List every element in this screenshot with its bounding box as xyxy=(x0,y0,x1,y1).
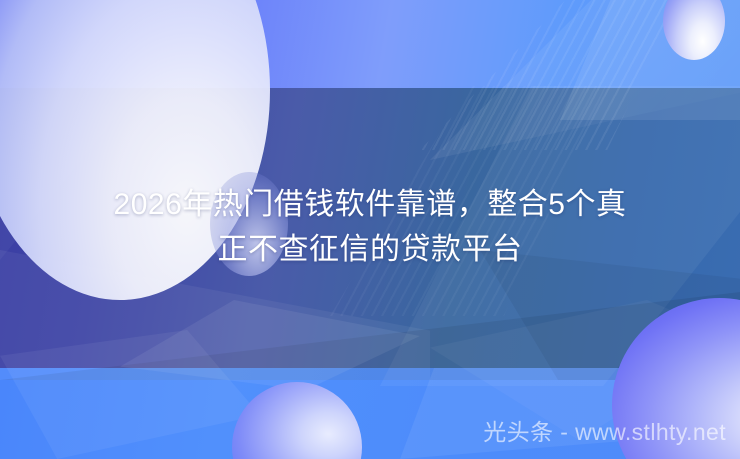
promo-banner: 2026年热门借钱软件靠谱，整合5个真 正不查征信的贷款平台 光头条 - www… xyxy=(0,0,740,459)
banner-headline: 2026年热门借钱软件靠谱，整合5个真 正不查征信的贷款平台 xyxy=(0,182,740,272)
site-watermark: 光头条 - www.stlhty.net xyxy=(483,413,726,447)
